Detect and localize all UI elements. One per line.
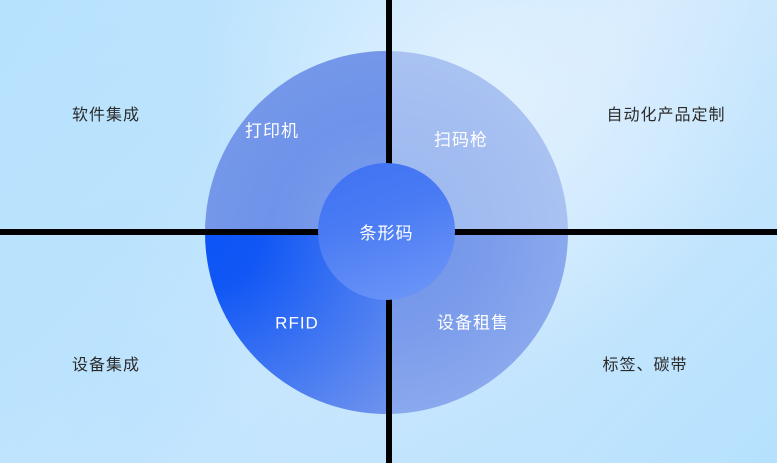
core-circle-label: 条形码 — [360, 219, 414, 244]
ring-label-printer: 打印机 — [245, 123, 299, 140]
quadrant-label-device-integration: 设备集成 — [72, 358, 140, 374]
core-circle: 条形码 — [318, 163, 455, 300]
quadrant-label-automation-customization: 自动化产品定制 — [606, 108, 725, 124]
ring-label-rfid: RFID — [275, 315, 319, 332]
quadrant-label-labels-ribbons: 标签、碳带 — [602, 358, 687, 374]
quadrant-label-software-integration: 软件集成 — [72, 108, 140, 124]
ring-label-equipment-rental: 设备租售 — [437, 315, 509, 332]
ring-label-scanner: 扫码枪 — [434, 132, 488, 149]
diagram-canvas: 条形码 打印机 扫码枪 RFID 设备租售 软件集成 自动化产品定制 设备集成 … — [0, 0, 777, 463]
